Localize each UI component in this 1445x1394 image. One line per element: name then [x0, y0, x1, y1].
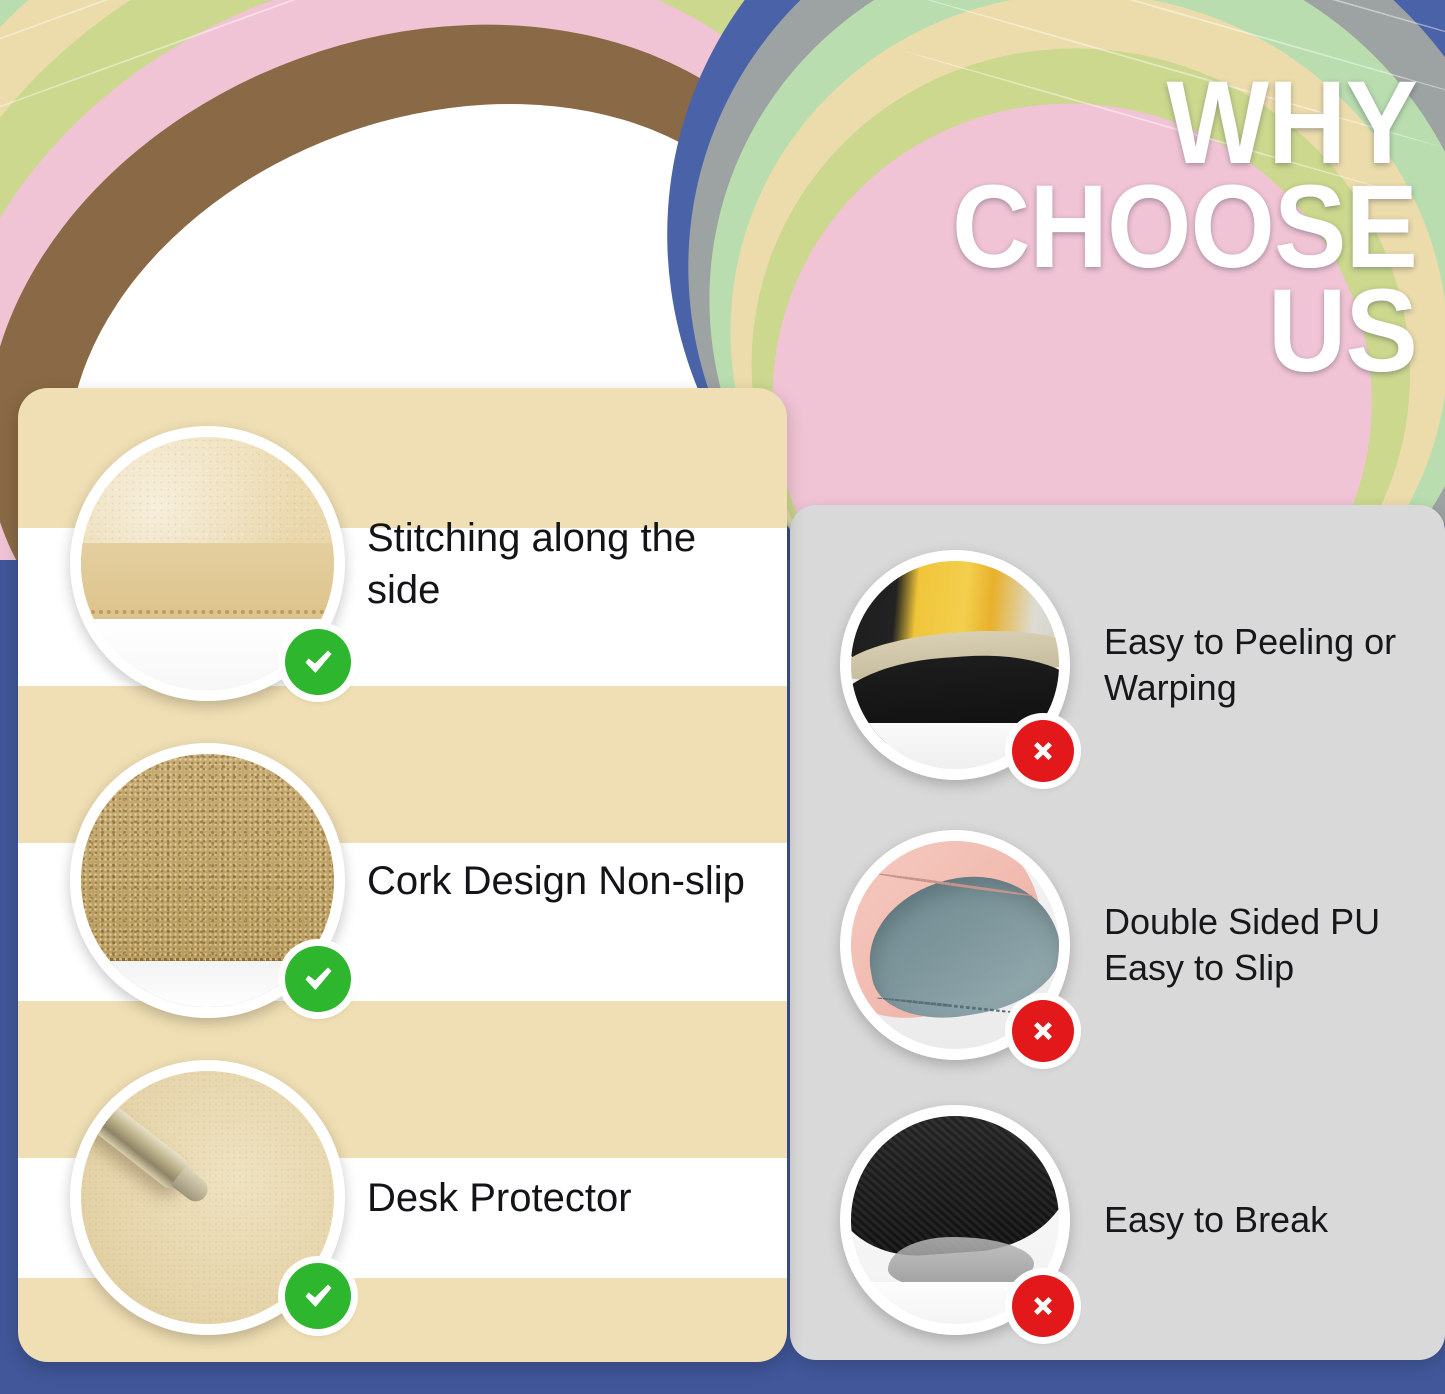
cons-label-3: Easy to Break [1104, 1197, 1434, 1243]
cons-photo-break [840, 1105, 1070, 1335]
page-title: WHY CHOOSE US [777, 72, 1417, 383]
cross-icon [1012, 1000, 1074, 1062]
cross-icon [1012, 1275, 1074, 1337]
pros-photo-stitching [70, 426, 345, 701]
pros-item-3: Desk Protector [18, 1060, 787, 1335]
cons-label-1: Easy to Peeling or Warping [1104, 619, 1434, 711]
pros-photo-cork [70, 743, 345, 1018]
cons-photo-double-sided [840, 830, 1070, 1060]
pros-item-1: Stitching along the side [18, 426, 787, 701]
check-icon [285, 946, 351, 1012]
pros-photo-desk-protector [70, 1060, 345, 1335]
cons-item-3: Easy to Break [840, 1105, 1434, 1335]
cons-panel: Easy to Peeling or Warping Double Sided … [790, 505, 1445, 1360]
pros-card: Stitching along the side Cork Design Non… [18, 388, 787, 1362]
cross-icon [1012, 720, 1074, 782]
check-icon [285, 629, 351, 695]
pros-label-3: Desk Protector [367, 1172, 767, 1224]
pros-item-2: Cork Design Non-slip [18, 743, 787, 1018]
check-icon [285, 1263, 351, 1329]
pros-label-1: Stitching along the side [367, 512, 767, 616]
infographic-canvas: WHY CHOOSE US Easy to Peeling or Warping [0, 0, 1445, 1394]
title-line-2: CHOOSE US [828, 176, 1417, 384]
pros-label-2: Cork Design Non-slip [367, 855, 767, 907]
cons-item-1: Easy to Peeling or Warping [840, 550, 1434, 780]
cons-item-2: Double Sided PU Easy to Slip [840, 830, 1434, 1060]
cons-photo-peeling [840, 550, 1070, 780]
cons-label-2: Double Sided PU Easy to Slip [1104, 899, 1434, 991]
